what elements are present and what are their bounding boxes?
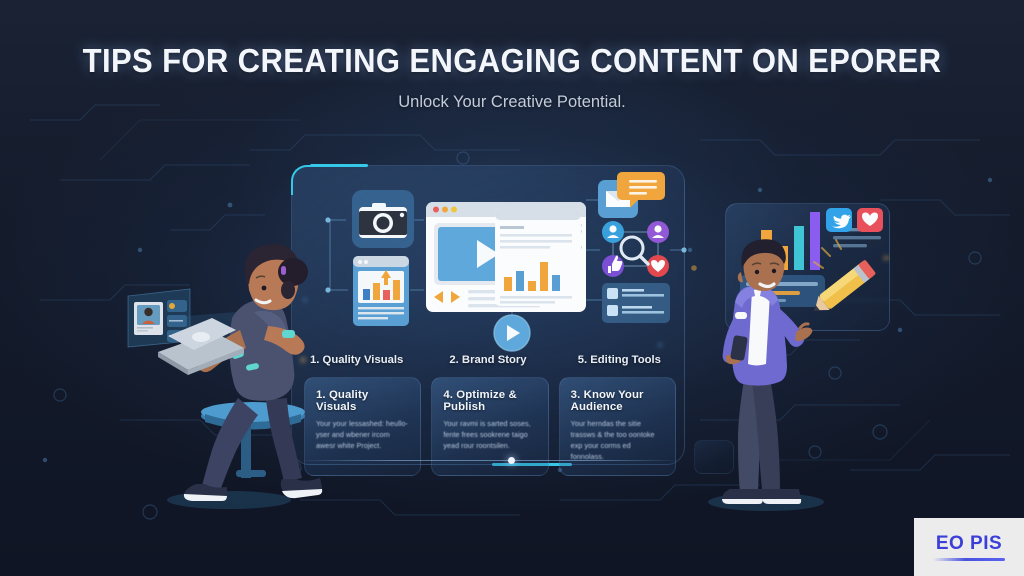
tip-card-body: Your your lessashed: heullo-yser and wbe… <box>316 419 409 452</box>
main-illustration <box>0 0 1024 576</box>
watermark-text: EO PIS <box>936 533 1002 555</box>
document-window <box>495 208 581 306</box>
section-label-3: 5. Editing Tools <box>554 354 685 366</box>
baseline-rule <box>298 460 680 461</box>
heart-icon-right <box>857 208 883 232</box>
tip-card-title: 1. Quality Visuals <box>316 389 409 413</box>
twitter-icon <box>826 208 852 232</box>
tip-card-title: 4. Optimize & Publish <box>443 389 536 413</box>
woman-head <box>245 244 308 310</box>
section-label-1: 1. Quality Visuals <box>291 354 422 366</box>
tip-card-body: Your ravmi is sarted soses, fente frees … <box>443 419 536 452</box>
person-icon <box>647 221 669 243</box>
analytics-card <box>353 256 409 326</box>
play-button <box>494 315 530 351</box>
heart-icon <box>647 255 669 277</box>
search-magnifier-icon <box>621 237 648 264</box>
thumbs-up-icon <box>602 255 624 277</box>
section-label-2: 2. Brand Story <box>422 354 553 366</box>
tip-card-title: 3. Know Your Audience <box>571 389 664 413</box>
camera-icon <box>352 190 414 248</box>
tip-card-body: Your herndas the sitie trassws & the too… <box>571 419 664 463</box>
watermark-underline <box>933 558 1005 561</box>
social-icon-cluster <box>602 221 669 277</box>
infographic-stage: TIPS FOR CREATING ENGAGING CONTENT ON EP… <box>0 0 1024 576</box>
section-label-row: 1. Quality Visuals 2. Brand Story 5. Edi… <box>291 354 685 366</box>
watermark-badge: EO PIS <box>914 518 1024 576</box>
comment-list-panel <box>602 283 670 323</box>
man-legs <box>722 378 801 504</box>
user-avatar-icon <box>602 221 624 243</box>
baseline-center-dot <box>508 457 515 464</box>
